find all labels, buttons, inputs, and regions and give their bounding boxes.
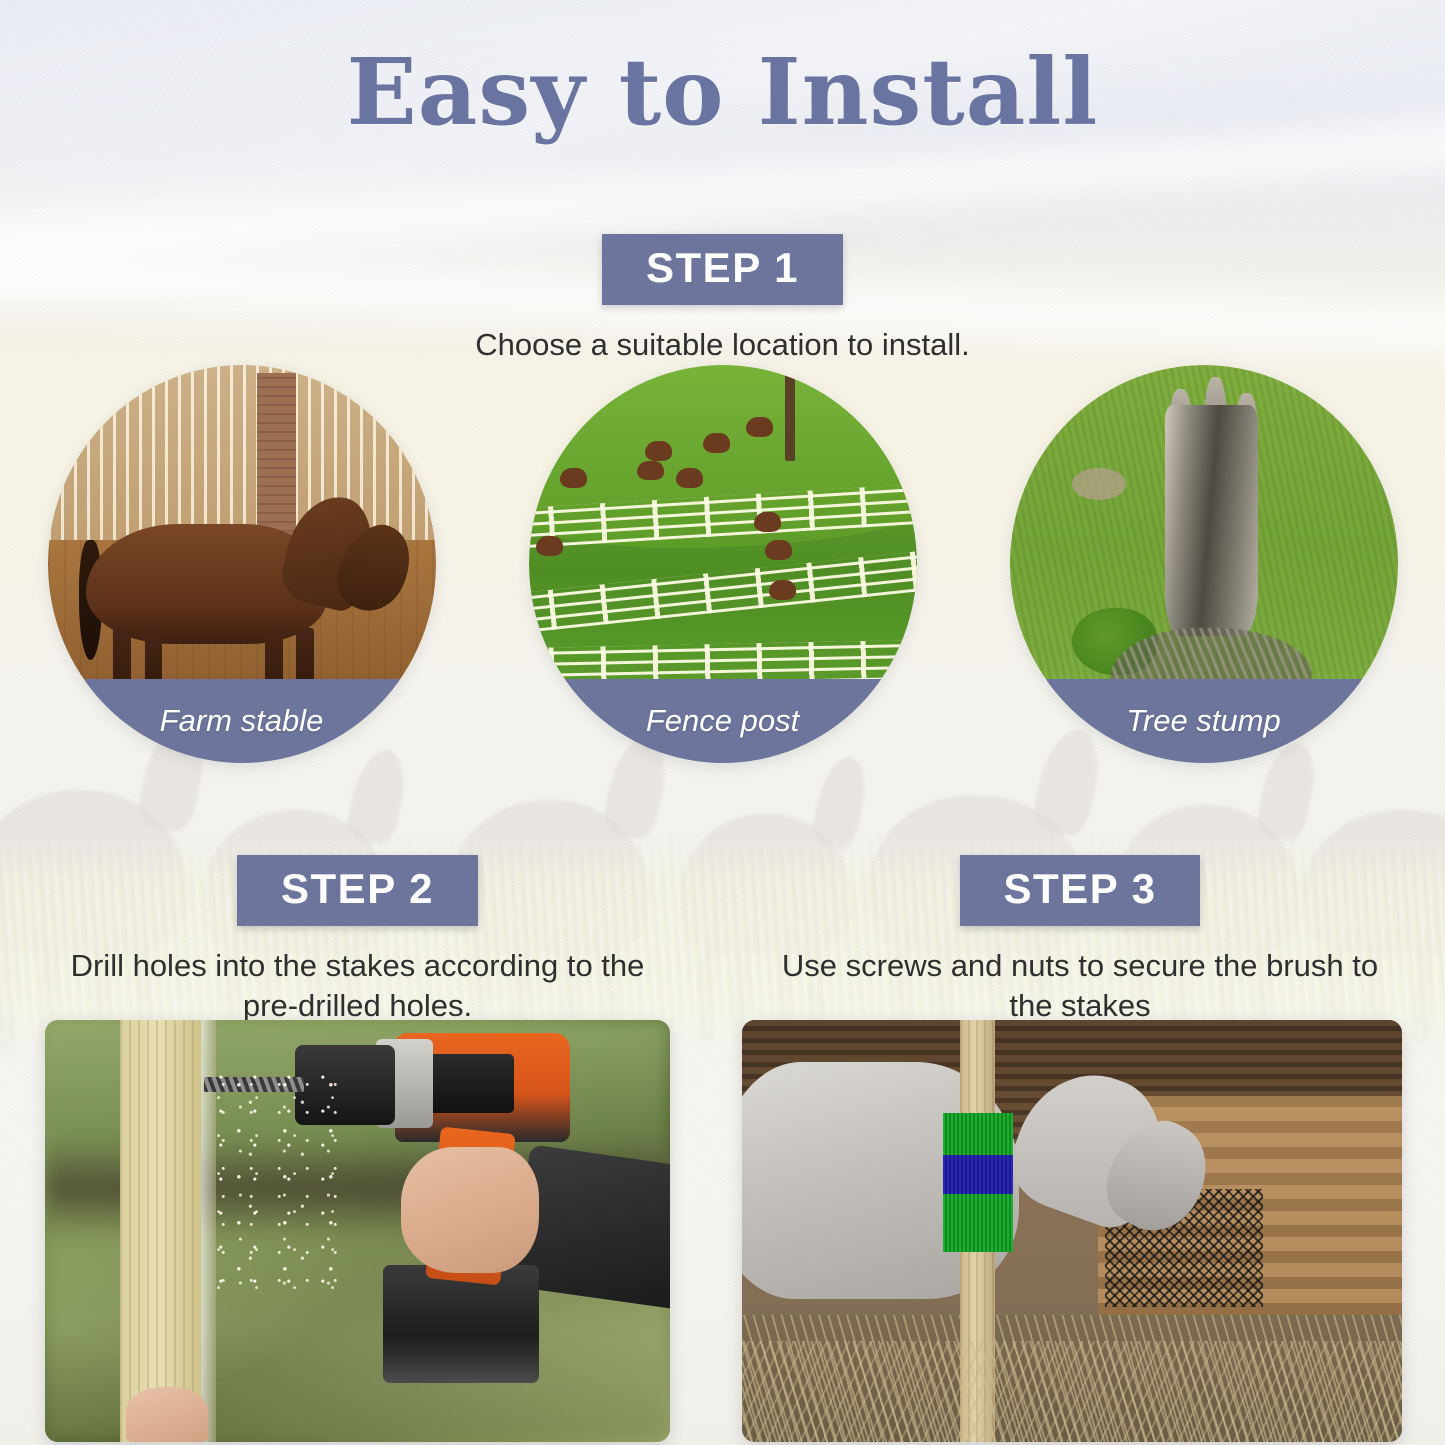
location-label-farm-stable: Farm stable [48,679,436,763]
step-2-photo-drilling [45,1020,670,1442]
location-label-tree-stump: Tree stump [1010,679,1398,763]
infographic-root: Easy to Install STEP 1 Choose a suitable… [0,0,1445,1445]
content-layer: Easy to Install STEP 1 Choose a suitable… [0,0,1445,1445]
step-1-caption: Choose a suitable location to install. [0,325,1445,365]
page-title: Easy to Install [0,46,1445,138]
location-card-fence-post: Fence post [529,365,917,763]
horse-scratching-brush [943,1113,1012,1252]
step-3-badge: STEP 3 [960,855,1201,926]
location-label-fence-post: Fence post [529,679,917,763]
step-2-header: STEP 2 Drill holes into the stakes accor… [45,855,670,1025]
step-3-photo-brush-installed [742,1020,1402,1442]
step-2-badge: STEP 2 [237,855,478,926]
location-card-tree-stump: Tree stump [1010,365,1398,763]
step-3-header: STEP 3 Use screws and nuts to secure the… [760,855,1400,1025]
step-1-badge: STEP 1 [602,234,843,305]
step-2-caption: Drill holes into the stakes according to… [45,946,670,1025]
location-card-farm-stable: Farm stable [48,365,436,763]
step-1-header: STEP 1 Choose a suitable location to ins… [0,234,1445,365]
location-card-row: Farm stable [0,365,1445,763]
step-3-caption: Use screws and nuts to secure the brush … [760,946,1400,1025]
